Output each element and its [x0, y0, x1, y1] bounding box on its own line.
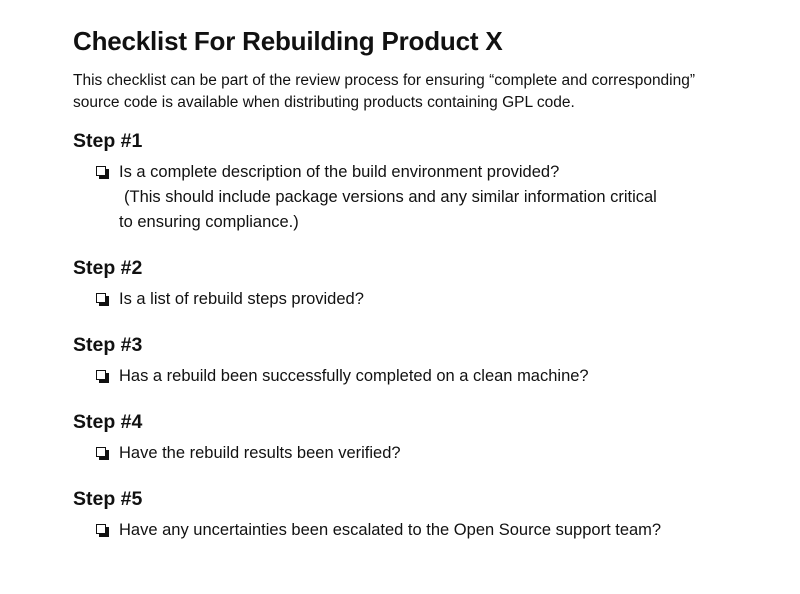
step-heading-5: Step #5 — [73, 487, 740, 511]
checklist-item-text: Have the rebuild results been verified? — [119, 441, 740, 466]
step-heading-2: Step #2 — [73, 256, 740, 280]
step-heading-3: Step #3 — [73, 333, 740, 357]
checklist-item-text: Has a rebuild been successfully complete… — [119, 364, 740, 389]
checklist-item-line-main: Is a list of rebuild steps provided? — [119, 287, 740, 312]
checklist-item-4[interactable]: Have the rebuild results been verified? — [96, 441, 740, 466]
checkbox-icon[interactable] — [96, 293, 109, 306]
checkbox-icon[interactable] — [96, 524, 109, 537]
checklist-item-text: Have any uncertainties been escalated to… — [119, 518, 740, 543]
step-block-2: Step #2 Is a list of rebuild steps provi… — [73, 256, 740, 312]
step-heading-1: Step #1 — [73, 129, 740, 153]
step-block-5: Step #5 Have any uncertainties been esca… — [73, 487, 740, 543]
step-heading-4: Step #4 — [73, 410, 740, 434]
bottom-spacer — [73, 543, 740, 549]
checklist-item-5[interactable]: Have any uncertainties been escalated to… — [96, 518, 740, 543]
checklist-item-line-main: Has a rebuild been successfully complete… — [119, 364, 740, 389]
step-block-4: Step #4 Have the rebuild results been ve… — [73, 410, 740, 466]
checklist-item-line-main: Have any uncertainties been escalated to… — [119, 518, 740, 543]
checkbox-icon[interactable] — [96, 447, 109, 460]
checklist-item-text: Is a complete description of the build e… — [119, 160, 740, 235]
checklist-item-line-cont-a: (This should include package versions an… — [119, 185, 740, 210]
checklist-item-3[interactable]: Has a rebuild been successfully complete… — [96, 364, 740, 389]
checkbox-icon[interactable] — [96, 166, 109, 179]
checklist-item-line-main: Is a complete description of the build e… — [119, 160, 740, 185]
checklist-item-line-cont-b: to ensuring compliance.) — [119, 210, 740, 235]
page-title: Checklist For Rebuilding Product X — [73, 26, 740, 56]
step-block-3: Step #3 Has a rebuild been successfully … — [73, 333, 740, 389]
checklist-item-text: Is a list of rebuild steps provided? — [119, 287, 740, 312]
checklist-item-2[interactable]: Is a list of rebuild steps provided? — [96, 287, 740, 312]
checklist-item-1[interactable]: Is a complete description of the build e… — [96, 160, 740, 235]
checklist-slide: Checklist For Rebuilding Product X This … — [0, 0, 800, 594]
checklist-item-line-main: Have the rebuild results been verified? — [119, 441, 740, 466]
checkbox-icon[interactable] — [96, 370, 109, 383]
intro-paragraph: This checklist can be part of the review… — [73, 70, 733, 113]
step-block-1: Step #1 Is a complete description of the… — [73, 129, 740, 235]
